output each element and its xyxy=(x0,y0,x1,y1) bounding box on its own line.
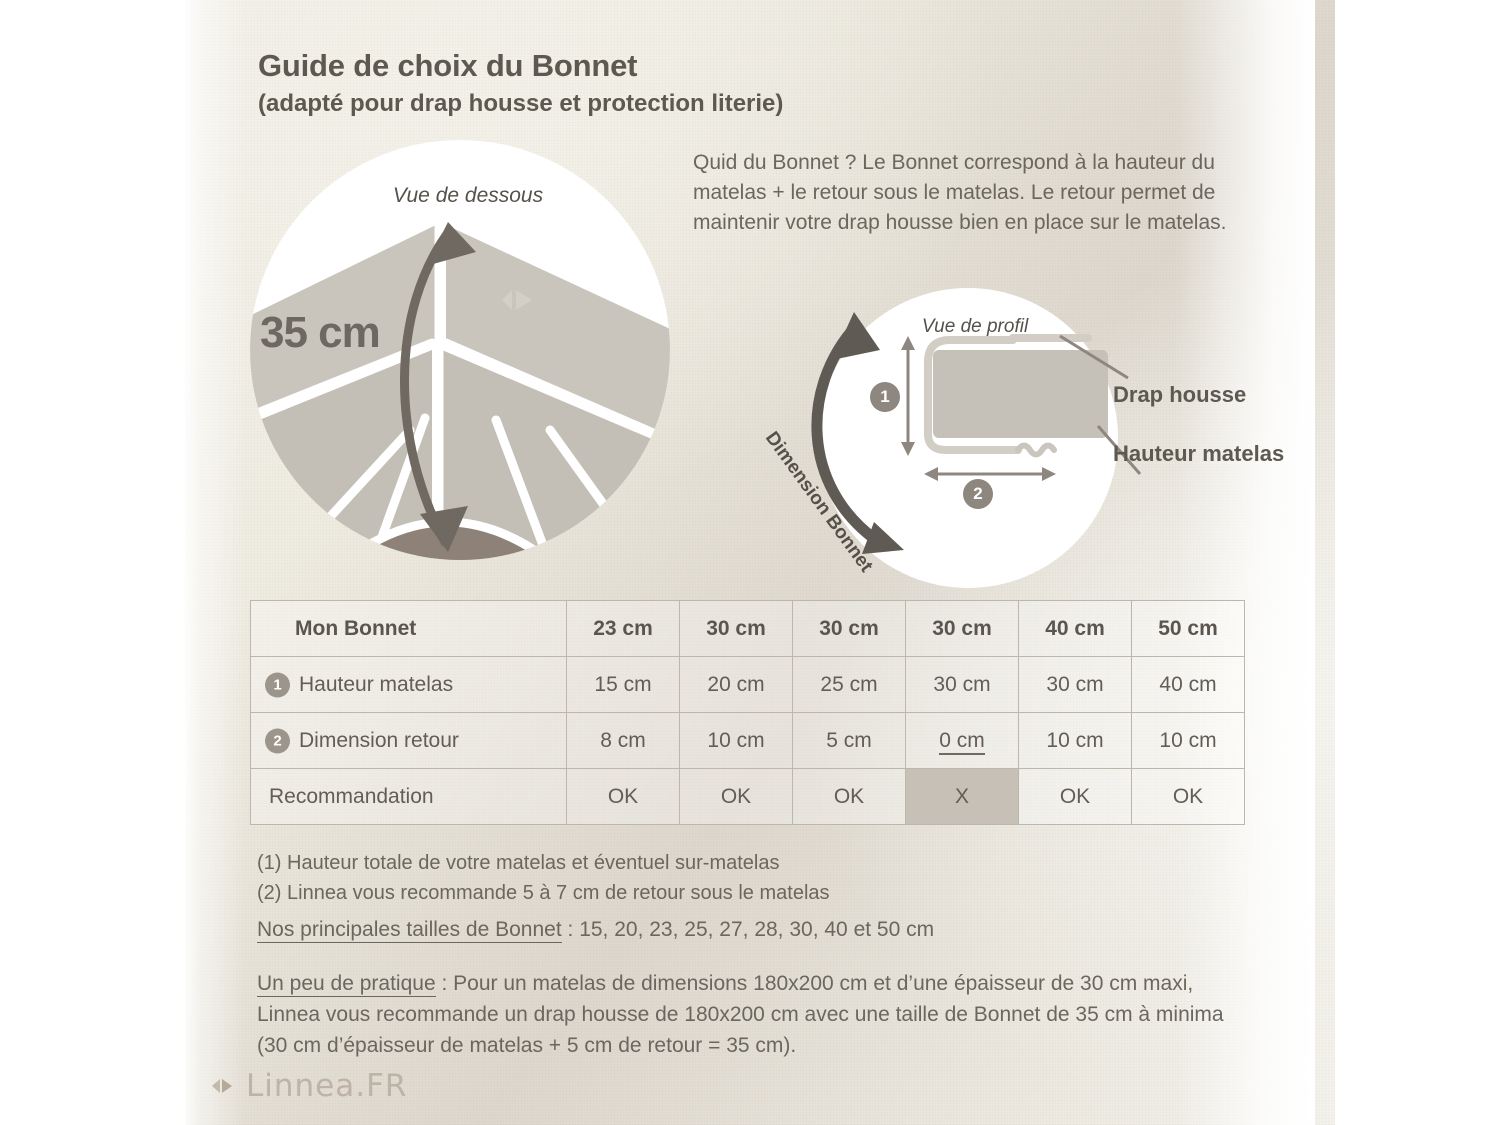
table-cell-retour-5: 10 cm xyxy=(1132,713,1245,769)
table-rowlabel-hauteur-text: Hauteur matelas xyxy=(299,673,453,696)
table-rowlabel-hauteur: 1 Hauteur matelas xyxy=(251,657,567,713)
table-row-retour: 2 Dimension retour 8 cm 10 cm 5 cm 0 cm … xyxy=(251,713,1245,769)
diagram-bottom-view: Vue de dessous 35 cm xyxy=(250,140,670,560)
page-title-block: Guide de choix du Bonnet (adapté pour dr… xyxy=(258,48,1018,119)
profile-badge-2: 2 xyxy=(963,479,993,509)
table-cell-hauteur-2: 25 cm xyxy=(793,657,906,713)
infographic-page: Guide de choix du Bonnet (adapté pour dr… xyxy=(0,0,1500,1125)
page-subtitle: (adapté pour drap housse et protection l… xyxy=(258,88,1018,119)
table-cell-reco-3: X xyxy=(906,769,1019,825)
table-row-reco: Recommandation OK OK OK X OK OK xyxy=(251,769,1245,825)
table-cell-reco-2: OK xyxy=(793,769,906,825)
table-cell-retour-1: 10 cm xyxy=(680,713,793,769)
bottom-view-caption: Vue de dessous xyxy=(378,184,558,208)
profile-badge-1: 1 xyxy=(870,382,900,412)
table-cell-retour-0: 8 cm xyxy=(567,713,680,769)
sizes-value: : 15, 20, 23, 25, 27, 28, 30, 40 et 50 c… xyxy=(562,918,934,941)
table-row-hauteur: 1 Hauteur matelas 15 cm 20 cm 25 cm 30 c… xyxy=(251,657,1245,713)
bonnet-table-wrapper: Mon Bonnet 23 cm 30 cm 30 cm 30 cm 40 cm… xyxy=(250,600,1245,825)
bonnet-measure-label: 35 cm xyxy=(260,308,420,358)
table-badge-2: 2 xyxy=(265,728,290,753)
footnotes: (1) Hauteur totale de votre matelas et é… xyxy=(257,848,1157,908)
table-rowlabel-retour-text: Dimension retour xyxy=(299,729,459,752)
table-cell-retour-3-value: 0 cm xyxy=(939,729,985,755)
logo[interactable]: Linnea.FR xyxy=(208,1068,407,1104)
diagram-profile-view: 1 2 Vue de profil Dimension Bonnet xyxy=(818,288,1118,588)
table-cell-bonnet-0: 23 cm xyxy=(567,601,680,657)
table-cell-hauteur-5: 40 cm xyxy=(1132,657,1245,713)
footnote-1: (1) Hauteur totale de votre matelas et é… xyxy=(257,848,1157,878)
table-cell-hauteur-1: 20 cm xyxy=(680,657,793,713)
table-cell-retour-2: 5 cm xyxy=(793,713,906,769)
sizes-label: Nos principales tailles de Bonnet xyxy=(257,918,562,943)
callout-hauteur-matelas: Hauteur matelas xyxy=(1113,440,1293,469)
panel-left-fade xyxy=(185,0,245,1125)
table-cell-bonnet-2: 30 cm xyxy=(793,601,906,657)
linnea-diamond-icon xyxy=(208,1073,236,1099)
table-cell-bonnet-3: 30 cm xyxy=(906,601,1019,657)
table-row-header: Mon Bonnet 23 cm 30 cm 30 cm 30 cm 40 cm… xyxy=(251,601,1245,657)
table-cell-bonnet-5: 50 cm xyxy=(1132,601,1245,657)
table-cell-hauteur-4: 30 cm xyxy=(1019,657,1132,713)
table-badge-1: 1 xyxy=(265,672,290,697)
table-cell-hauteur-0: 15 cm xyxy=(567,657,680,713)
table-rowlabel-retour: 2 Dimension retour xyxy=(251,713,567,769)
page-title: Guide de choix du Bonnet xyxy=(258,48,1018,84)
logo-text: Linnea.FR xyxy=(246,1068,407,1104)
footnote-2: (2) Linnea vous recommande 5 à 7 cm de r… xyxy=(257,878,1157,908)
practice-paragraph: Un peu de pratique : Pour un matelas de … xyxy=(257,968,1257,1061)
callout-drap-housse: Drap housse xyxy=(1113,382,1246,408)
table-cell-reco-4: OK xyxy=(1019,769,1132,825)
bonnet-table: Mon Bonnet 23 cm 30 cm 30 cm 30 cm 40 cm… xyxy=(250,600,1245,825)
practice-label: Un peu de pratique xyxy=(257,972,436,997)
table-cell-reco-0: OK xyxy=(567,769,680,825)
table-cell-bonnet-1: 30 cm xyxy=(680,601,793,657)
table-cell-bonnet-4: 40 cm xyxy=(1019,601,1132,657)
table-cell-reco-1: OK xyxy=(680,769,793,825)
intro-paragraph: Quid du Bonnet ? Le Bonnet correspond à … xyxy=(693,148,1263,239)
table-rowlabel-bonnet: Mon Bonnet xyxy=(251,601,567,657)
profile-view-caption: Vue de profil xyxy=(890,316,1060,338)
table-cell-reco-5: OK xyxy=(1132,769,1245,825)
table-cell-hauteur-3: 30 cm xyxy=(906,657,1019,713)
table-cell-retour-3: 0 cm xyxy=(906,713,1019,769)
table-cell-retour-4: 10 cm xyxy=(1019,713,1132,769)
sizes-line: Nos principales tailles de Bonnet : 15, … xyxy=(257,918,1207,942)
table-rowlabel-reco: Recommandation xyxy=(251,769,567,825)
